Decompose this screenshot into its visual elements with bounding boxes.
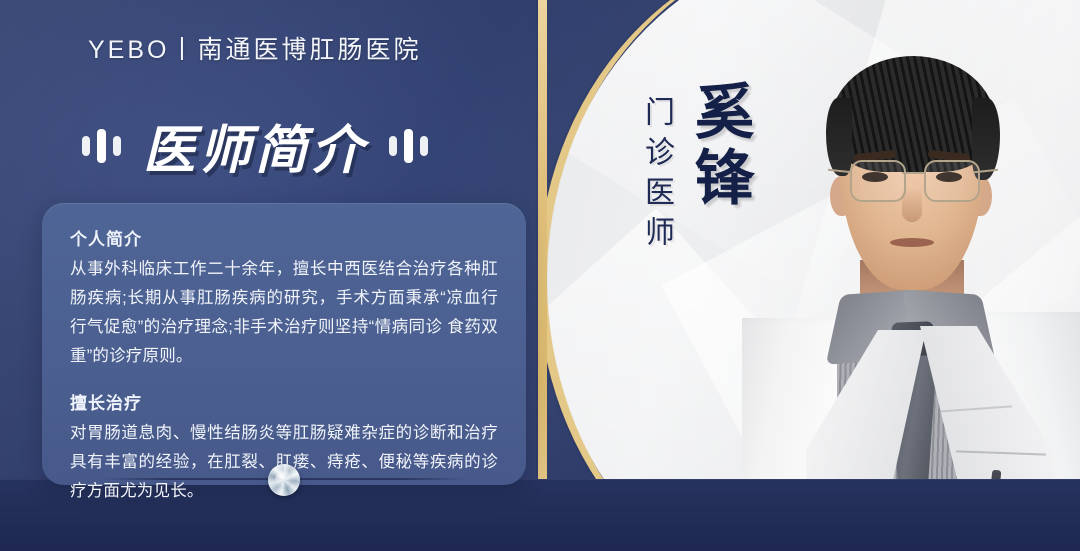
section-body-bio: 从事外科临床工作二十余年，擅长中西医结合治疗各种肛肠疾病;长期从事肛肠疾病的研究… [70,255,498,371]
eyeglasses-lens-left [850,160,906,202]
section-heading-specialty: 擅长治疗 [70,389,498,414]
section-heading-bio: 个人简介 [70,225,498,250]
page-title-text: 医师简介 [143,108,367,183]
doctor-photo [742,0,1080,551]
section-body-specialty: 对胃肠道息肉、慢性结肠炎等肛肠疑难杂症的诊断和治疗具有丰富的经验，在肛裂、肛瘘、… [70,419,498,506]
eyeglasses-bridge [902,172,924,174]
eyeglasses-lens-right [924,160,980,202]
tick-mark-icon-left [82,129,121,163]
doctor-name: 奚锋 [676,80,763,212]
mouth [890,238,934,247]
profile-card: 个人简介 从事外科临床工作二十余年，擅长中西医结合治疗各种肛肠疾病;长期从事肛肠… [42,203,526,485]
doctor-role: 门诊医师 [634,96,678,256]
nose [902,188,922,222]
brand-title: YEBO丨南通医博肛肠医院 [88,30,421,66]
section-spacer [70,371,498,389]
page-title: 医师简介 [82,108,428,183]
doctor-profile-poster: YEBO丨南通医博肛肠医院 医师简介 个人简介 从事外科临床工作二十余年，擅长中… [0,0,1080,551]
hair-side-left [826,98,852,176]
tick-mark-icon-right [389,129,428,163]
